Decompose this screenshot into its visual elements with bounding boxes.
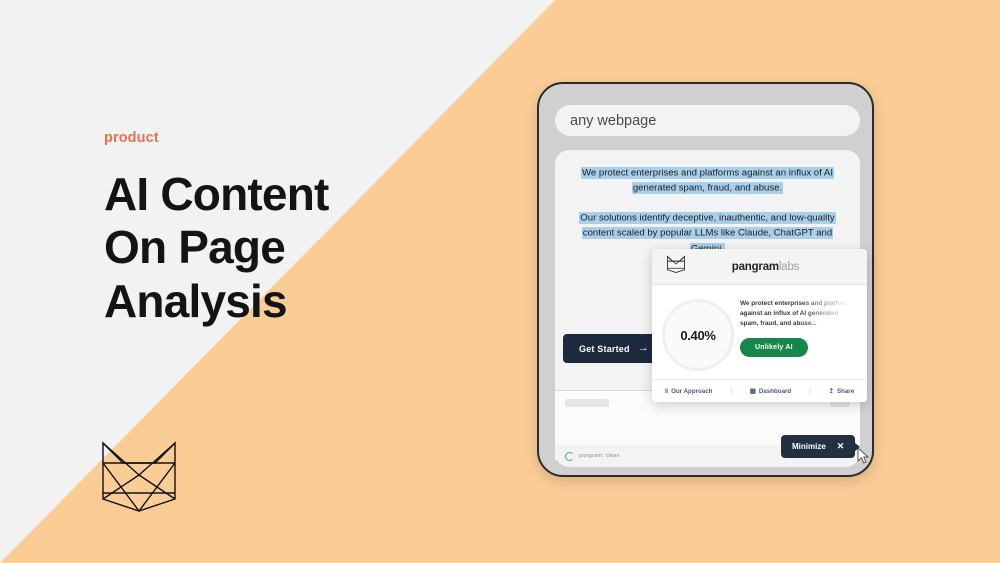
widget-brand: pangramlabs	[700, 261, 853, 273]
brand-secondary: labs	[779, 261, 799, 273]
widget-header: pangramlabs	[652, 249, 867, 285]
pangram-analysis-widget: pangramlabs 0.40% We protect enterprises…	[652, 249, 867, 402]
url-input[interactable]: any webpage	[570, 113, 656, 129]
footer-separator: |	[809, 388, 811, 395]
widget-detail: We protect enterprises and platforms aga…	[740, 297, 855, 371]
dashboard-label: Dashboard	[759, 388, 791, 395]
screenshot-canvas: product AI Content On Page Analysis any …	[0, 0, 1000, 563]
eyebrow-label: product	[104, 130, 434, 146]
gauge-value: 0.40%	[680, 328, 715, 343]
arrow-right-icon: →	[638, 343, 649, 354]
headline-line-2: On Page	[104, 221, 434, 274]
share-link[interactable]: ↥ Share	[828, 387, 854, 395]
mouse-cursor-icon	[857, 447, 871, 470]
ai-likelihood-gauge: 0.40%	[662, 299, 734, 371]
minimize-tooltip[interactable]: Minimize ✕	[781, 435, 855, 458]
url-bar[interactable]: any webpage	[555, 105, 860, 136]
page-paragraph-1: We protect enterprises and platforms aga…	[555, 165, 860, 196]
share-icon: ↥	[828, 387, 833, 395]
dashboard-link[interactable]: ▦ Dashboard	[750, 387, 791, 395]
close-icon[interactable]: ✕	[837, 442, 845, 451]
our-approach-link[interactable]: ‖ Our Approach	[665, 388, 713, 395]
status-ring-icon	[565, 452, 574, 461]
dashboard-icon: ▦	[750, 387, 756, 395]
pangram-fox-icon	[666, 255, 686, 278]
footer-separator: |	[730, 388, 732, 395]
analyzed-text-snippet: We protect enterprises and platforms aga…	[740, 299, 855, 329]
highlighted-text-1: We protect enterprises and platforms aga…	[581, 167, 834, 195]
get-started-label: Get Started	[579, 344, 630, 354]
pangram-fox-logo	[97, 437, 181, 513]
share-label: Share	[837, 388, 854, 395]
placeholder-chip	[565, 399, 609, 407]
hero-copy: product AI Content On Page Analysis	[104, 130, 434, 328]
headline-line-3: Analysis	[104, 275, 434, 328]
get-started-button[interactable]: Get Started →	[563, 334, 665, 363]
widget-footer: ‖ Our Approach | ▦ Dashboard | ↥ Share	[652, 379, 867, 402]
our-approach-label: Our Approach	[671, 388, 712, 395]
brand-primary: pangram	[732, 261, 779, 273]
page-title: AI Content On Page Analysis	[104, 168, 434, 328]
status-text: pangram: clean	[579, 453, 620, 459]
headline-line-1: AI Content	[104, 168, 434, 221]
widget-body: 0.40% We protect enterprises and platfor…	[652, 285, 867, 379]
minimize-label: Minimize	[792, 442, 826, 451]
status-badge: Unlikely AI	[740, 338, 808, 357]
chart-icon: ‖	[665, 388, 668, 395]
